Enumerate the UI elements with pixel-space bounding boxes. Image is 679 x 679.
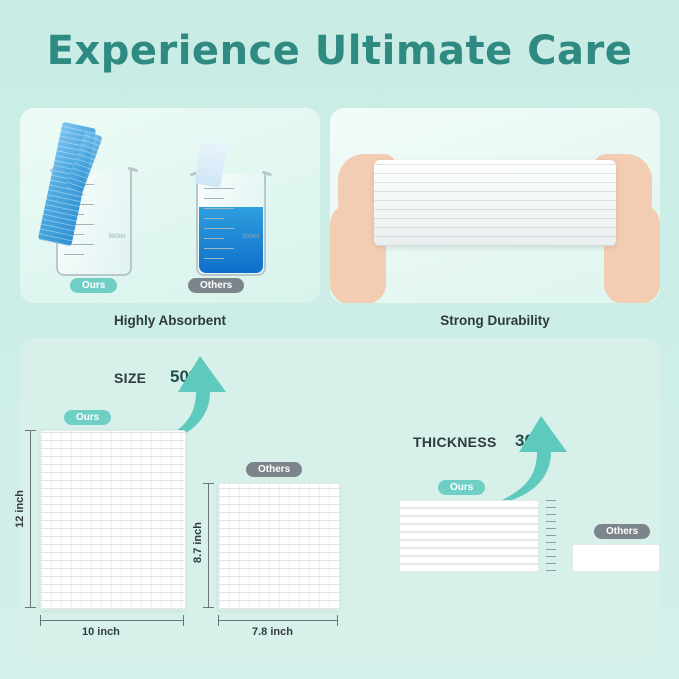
dimline-ours-width [40,620,184,621]
dimtick-ours-width-left [40,615,41,626]
dimtick-ours-height-bottom [25,607,36,608]
dimtick-others-height-bottom [203,607,214,608]
stack-layer [399,500,539,508]
stack-layer [399,516,539,524]
stack-layer [399,556,539,564]
beaker-others-lip-right [262,171,272,177]
promo-image: Experience Ultimate Care 500ml 500ml [0,0,679,679]
sheet-others-size [218,483,340,610]
label-ours-width: 10 inch [82,626,120,638]
beaker-ours-capacity-label: 500ml [109,234,125,240]
dimtick-others-width-right [337,615,338,626]
badge-others-thickness: Others [594,524,650,539]
beaker-lip-right [128,167,138,173]
stack-layer [399,548,539,556]
badge-ours-absorbent: Ours [70,278,117,293]
caption-highly-absorbent: Highly Absorbent [20,313,320,328]
badge-ours-thickness: Ours [438,480,485,495]
beaker-others: 500ml [196,174,266,276]
page-title: Experience Ultimate Care [0,28,679,74]
dimtick-ours-width-right [183,615,184,626]
stack-layer [399,532,539,540]
ruler-ours-thickness [546,500,560,576]
label-others-width: 7.8 inch [252,626,293,638]
beaker-others-capacity-label: 500ml [243,234,259,240]
label-ours-height: 12 inch [14,490,26,528]
stack-layer [572,544,660,572]
label-others-height: 8.7 inch [192,522,204,563]
stack-others-thickness [572,544,660,572]
dimtick-others-width-left [218,615,219,626]
dimline-ours-height [30,430,31,608]
dimtick-others-height-top [203,483,214,484]
beaker-others-graduations [204,188,242,268]
badge-others-absorbent: Others [188,278,244,293]
dimline-others-height [208,483,209,608]
card-strong-durability [330,108,660,303]
dimline-others-width [218,620,338,621]
sheet-ours-size [40,430,186,610]
card-highly-absorbent: 500ml 500ml Ours Others [20,108,320,303]
stack-layer [399,508,539,516]
badge-others-size: Others [246,462,302,477]
stack-layer [399,540,539,548]
wipe-stretched [374,160,616,246]
stack-ours-thickness [399,500,539,574]
caption-strong-durability: Strong Durability [330,313,660,328]
stack-layer [399,564,539,572]
stack-layer [399,524,539,532]
badge-ours-size: Ours [64,410,111,425]
panel-comparison: SIZE 50% Ours 12 inch 10 inch Others 8.7… [20,338,660,660]
dimtick-ours-height-top [25,430,36,431]
